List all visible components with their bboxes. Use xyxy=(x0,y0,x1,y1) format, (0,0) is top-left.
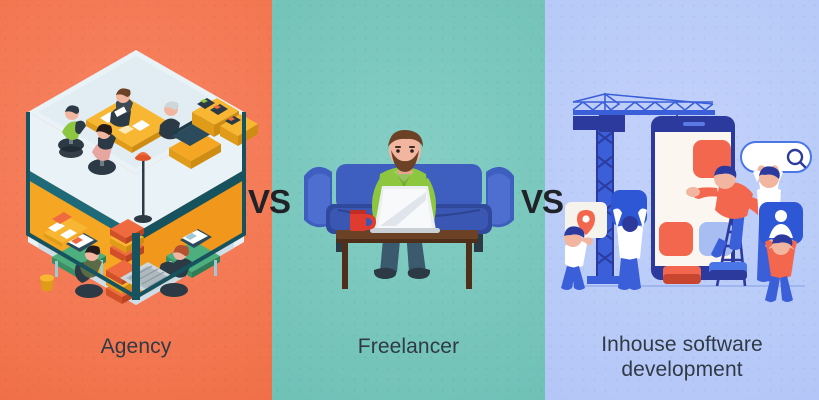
agency-illustration xyxy=(14,92,258,302)
caption-freelancer: Freelancer xyxy=(272,335,545,360)
panel-agency: Agency xyxy=(0,0,272,400)
comparison-banner: Agency xyxy=(0,0,819,400)
caption-inhouse-line2: development xyxy=(545,358,819,383)
inhouse-illustration xyxy=(559,90,809,300)
panel-freelancer: Freelancer xyxy=(272,0,545,400)
freelancer-illustration xyxy=(300,130,518,290)
coffee-table xyxy=(336,230,478,289)
vs-separator-2: VS xyxy=(521,183,563,221)
trash-bin xyxy=(40,275,54,292)
vs-separator-1: VS xyxy=(248,183,290,221)
caption-inhouse: Inhouse software development xyxy=(545,333,819,383)
caption-inhouse-line1: Inhouse software xyxy=(545,333,819,358)
caption-agency: Agency xyxy=(0,335,272,360)
panel-inhouse: Inhouse software development xyxy=(545,0,819,400)
